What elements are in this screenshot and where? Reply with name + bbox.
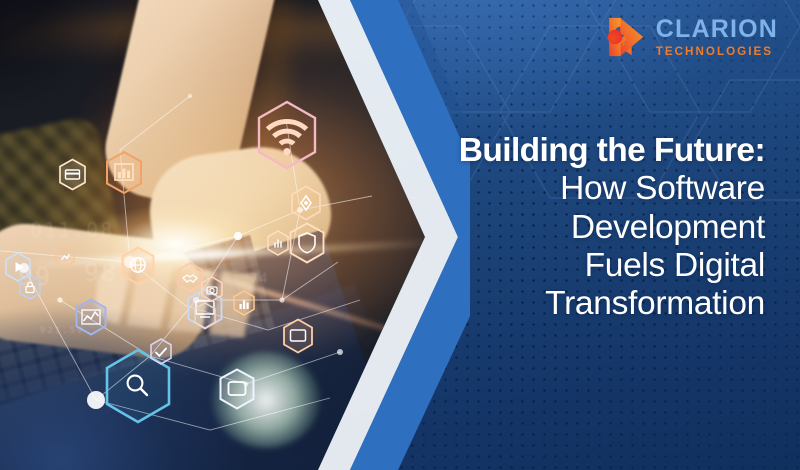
logo-name: CLARION (656, 17, 778, 42)
headline-line-2: How Software (345, 170, 765, 208)
analytics-icon (232, 290, 256, 317)
camera-icon (200, 276, 224, 303)
wifi-icon (256, 100, 318, 170)
logo-subtitle: TECHNOLOGIES (656, 46, 778, 58)
image-icon (218, 368, 256, 410)
headline: Building the Future: How Software Develo… (345, 132, 765, 324)
chart-bar-icon (104, 150, 144, 195)
photo-numeral: 921.50 (40, 326, 85, 336)
headline-line-1: Building the Future: (345, 132, 765, 170)
display-icon (282, 318, 314, 354)
photo-numeral: 98 (84, 258, 118, 287)
photo-numeral: 011.08 (30, 218, 114, 242)
diamond-icon (290, 185, 322, 221)
checkmark-icon (148, 338, 174, 367)
clarion-arrow-logomark (601, 14, 647, 60)
cloud-globe-icon (120, 246, 156, 286)
headline-line-4: Fuels Digital (345, 247, 765, 285)
hexagon-outline-icon (192, 302, 218, 331)
shield-icon (288, 222, 326, 264)
headline-line-5: Transformation (345, 285, 765, 323)
chart-small-icon (54, 244, 76, 269)
blog-banner: 99 98 011.08 921.50 .74 Building the Fut… (0, 0, 800, 470)
brand-logo[interactable]: CLARION TECHNOLOGIES (601, 14, 778, 60)
photo-numeral: 99 (18, 262, 52, 291)
headline-line-3: Development (345, 209, 765, 247)
bar-small-icon (266, 230, 290, 257)
credit-card-icon (58, 158, 87, 191)
photo-numeral: .74 (240, 272, 269, 287)
